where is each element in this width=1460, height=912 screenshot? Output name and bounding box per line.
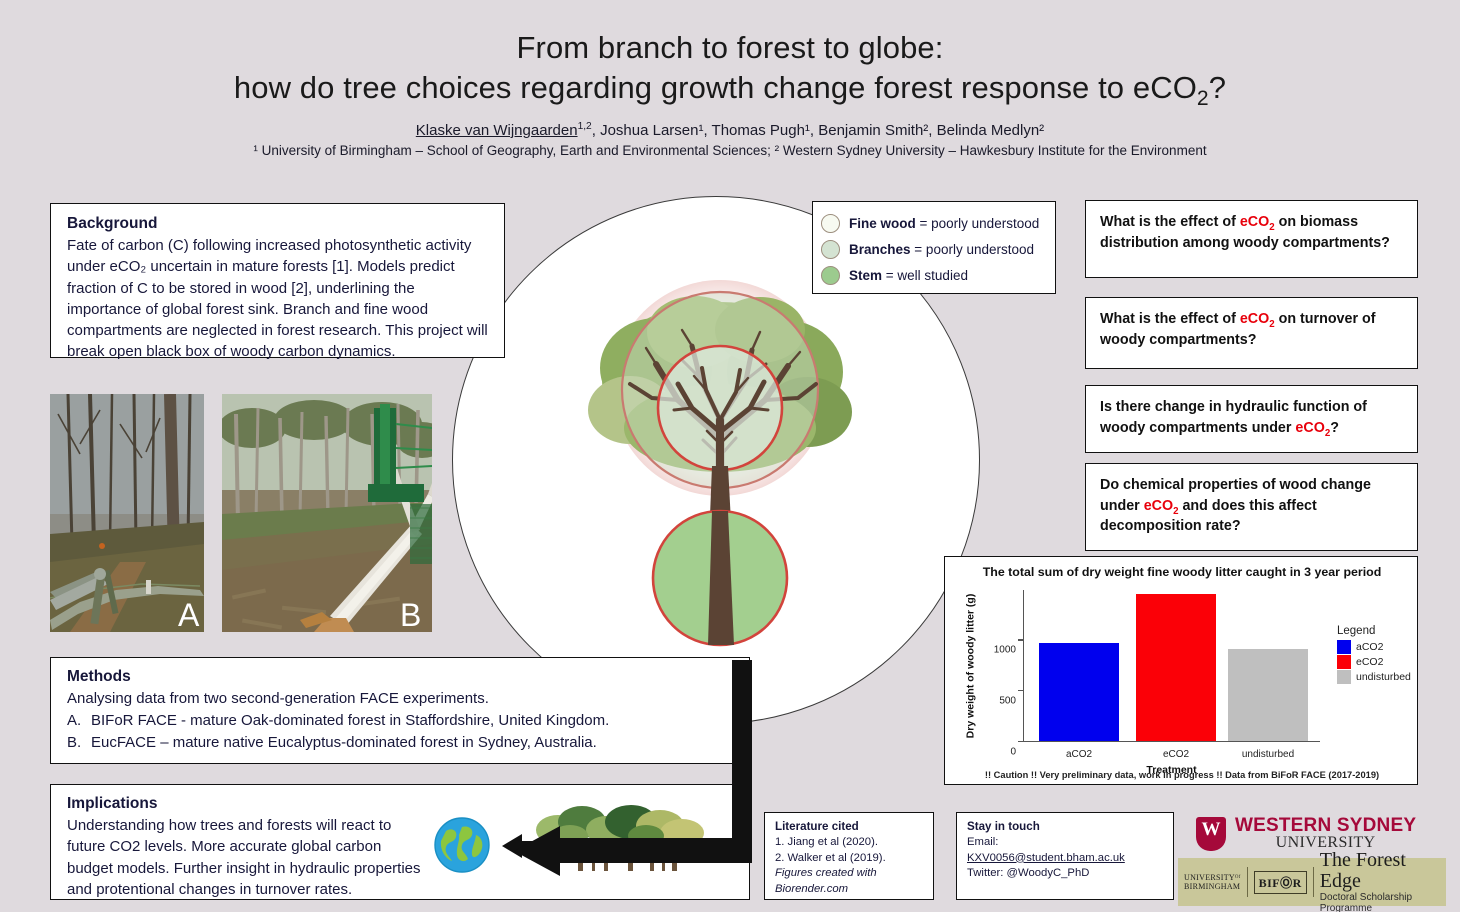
background-heading: Background — [67, 215, 490, 233]
email-label: Email: — [967, 835, 1165, 851]
chart-legend-item-aco2: aCO2 — [1337, 640, 1411, 654]
chart-legend-title: Legend — [1337, 625, 1411, 637]
svg-text:B: B — [400, 597, 421, 632]
tree-compartment-legend: Fine wood = poorly understood Branches =… — [812, 201, 1056, 294]
flow-arrow-tree-to-forest — [500, 660, 780, 885]
title-line-1: From branch to forest to globe: — [0, 28, 1460, 68]
contact-box: Stay in touch Email: KXV0056@student.bha… — [956, 812, 1174, 900]
bar-aco2 — [1039, 643, 1119, 741]
contact-heading: Stay in touch — [967, 820, 1165, 833]
implications-text: Understanding how trees and forests will… — [67, 815, 427, 900]
tree-diagram-illustration — [560, 260, 880, 690]
x-tick-label-eco2: eCO2 — [1163, 749, 1189, 760]
legend-row-branches: Branches = poorly understood — [821, 236, 1047, 262]
forest-edge-subtitle: Doctoral Scholarship Programme — [1320, 892, 1446, 912]
title-line-2-tail: ? — [1209, 70, 1226, 105]
photo-eucface: B B — [222, 394, 432, 632]
background-text: Fate of carbon (C) following increased p… — [67, 235, 490, 363]
y-axis-line — [1023, 590, 1024, 742]
lead-author: Klaske van Wijngaarden — [416, 122, 578, 139]
research-question-3: Is there change in hydraulic function of… — [1085, 385, 1418, 453]
email-link[interactable]: KXV0056@student.bham.ac.uk — [967, 851, 1165, 867]
affiliations: ¹ University of Birmingham – School of G… — [0, 143, 1460, 158]
research-question-4: Do chemical properties of wood change un… — [1085, 463, 1418, 551]
research-question-1: What is the effect of eCO2 on biomass di… — [1085, 200, 1418, 278]
literature-item-2: 2. Walker et al (2019). — [775, 851, 925, 867]
legend-row-stem: Stem = well studied — [821, 262, 1047, 288]
legend-label-branches: Branches = poorly understood — [849, 242, 1034, 257]
coauthors: , Joshua Larsen¹, Thomas Pugh¹, Benjamin… — [592, 122, 1044, 139]
question-3-text: Is there change in hydraulic function of… — [1100, 397, 1405, 438]
literature-item-1: 1. Jiang et al (2020). — [775, 835, 925, 851]
legend-label-fine-wood: Fine wood = poorly understood — [849, 216, 1039, 231]
x-tick-label-aco2: aCO2 — [1066, 749, 1092, 760]
chart-y-axis-label: Dry weight of woody litter (g) — [963, 590, 977, 742]
bifor-logo-text: BIFⓄR — [1254, 871, 1307, 894]
fine-wood-swatch-icon — [821, 214, 840, 233]
eco2-token: eCO2 — [1240, 214, 1275, 230]
eco2-token: eCO2 — [1144, 498, 1179, 514]
question-4-text: Do chemical properties of wood change un… — [1100, 475, 1405, 537]
question-1-text: What is the effect of eCO2 on biomass di… — [1100, 212, 1405, 253]
x-tick-label-undisturbed: undisturbed — [1242, 749, 1294, 760]
poster-canvas: From branch to forest to globe: how do t… — [0, 0, 1460, 912]
title-subscript: 2 — [1197, 87, 1209, 110]
logo-divider-2 — [1313, 867, 1314, 897]
author-list: Klaske van Wijngaarden1,2, Joshua Larsen… — [0, 122, 1460, 139]
chart-title: The total sum of dry weight fine woody l… — [945, 565, 1419, 579]
literature-cited-box: Literature cited 1. Jiang et al (2020). … — [764, 812, 934, 900]
logo-divider — [1247, 867, 1248, 897]
branches-swatch-icon — [821, 240, 840, 259]
background-section: Background Fate of carbon (C) following … — [50, 203, 505, 358]
forest-edge-logo: UNIVERSITYᴼᶠ BIRMINGHAM BIFⓄR The Forest… — [1178, 858, 1446, 906]
twitter-handle: Twitter: @WoodyC_PhD — [967, 866, 1165, 882]
litter-bar-chart-panel: The total sum of dry weight fine woody l… — [944, 556, 1418, 785]
bar-undisturbed — [1228, 649, 1308, 740]
x-axis-line — [1023, 741, 1320, 742]
legend-swatch-eco2 — [1337, 655, 1351, 669]
globe-icon — [432, 815, 492, 875]
wsu-shield-icon — [1196, 817, 1226, 851]
uob-logo-text: UNIVERSITYᴼᶠ BIRMINGHAM — [1184, 873, 1241, 891]
title-line-2: how do tree choices regarding growth cha… — [0, 68, 1460, 108]
bar-eco2 — [1136, 594, 1216, 740]
chart-legend-item-eco2: eCO2 — [1337, 655, 1411, 669]
legend-swatch-undisturbed — [1337, 670, 1351, 684]
chart-plot-area: 0 500 1000 aCO2 eCO2 undisturbed — [1023, 590, 1320, 742]
stem-swatch-icon — [821, 266, 840, 285]
literature-heading: Literature cited — [775, 820, 925, 833]
lead-author-affil: 1,2 — [578, 121, 592, 132]
question-2-text: What is the effect of eCO2 on turnover o… — [1100, 309, 1405, 350]
photo-a-image: A — [50, 394, 204, 632]
forest-edge-title: The Forest Edge — [1320, 850, 1446, 892]
title-line-2-text: how do tree choices regarding growth cha… — [234, 70, 1197, 105]
poster-title-block: From branch to forest to globe: how do t… — [0, 28, 1460, 158]
literature-note: Figures created with Biorender.com — [775, 866, 925, 897]
wsu-logo-line-1: WESTERN SYDNEY — [1235, 816, 1416, 835]
chart-legend-item-undisturbed: undisturbed — [1337, 670, 1411, 684]
svg-text:A: A — [178, 597, 200, 632]
photo-b-image: B — [222, 394, 432, 632]
eco2-token: eCO2 — [1240, 311, 1275, 327]
chart-caution-caption: !! Caution !! Very preliminary data, wor… — [945, 770, 1419, 780]
research-question-2: What is the effect of eCO2 on turnover o… — [1085, 297, 1418, 369]
chart-legend: Legend aCO2 eCO2 undisturbed — [1337, 625, 1411, 685]
legend-label-stem: Stem = well studied — [849, 268, 968, 283]
legend-swatch-aco2 — [1337, 640, 1351, 654]
legend-row-fine-wood: Fine wood = poorly understood — [821, 210, 1047, 236]
eco2-token: eCO2 — [1295, 420, 1330, 436]
photo-bifor-face: A A — [50, 394, 204, 632]
